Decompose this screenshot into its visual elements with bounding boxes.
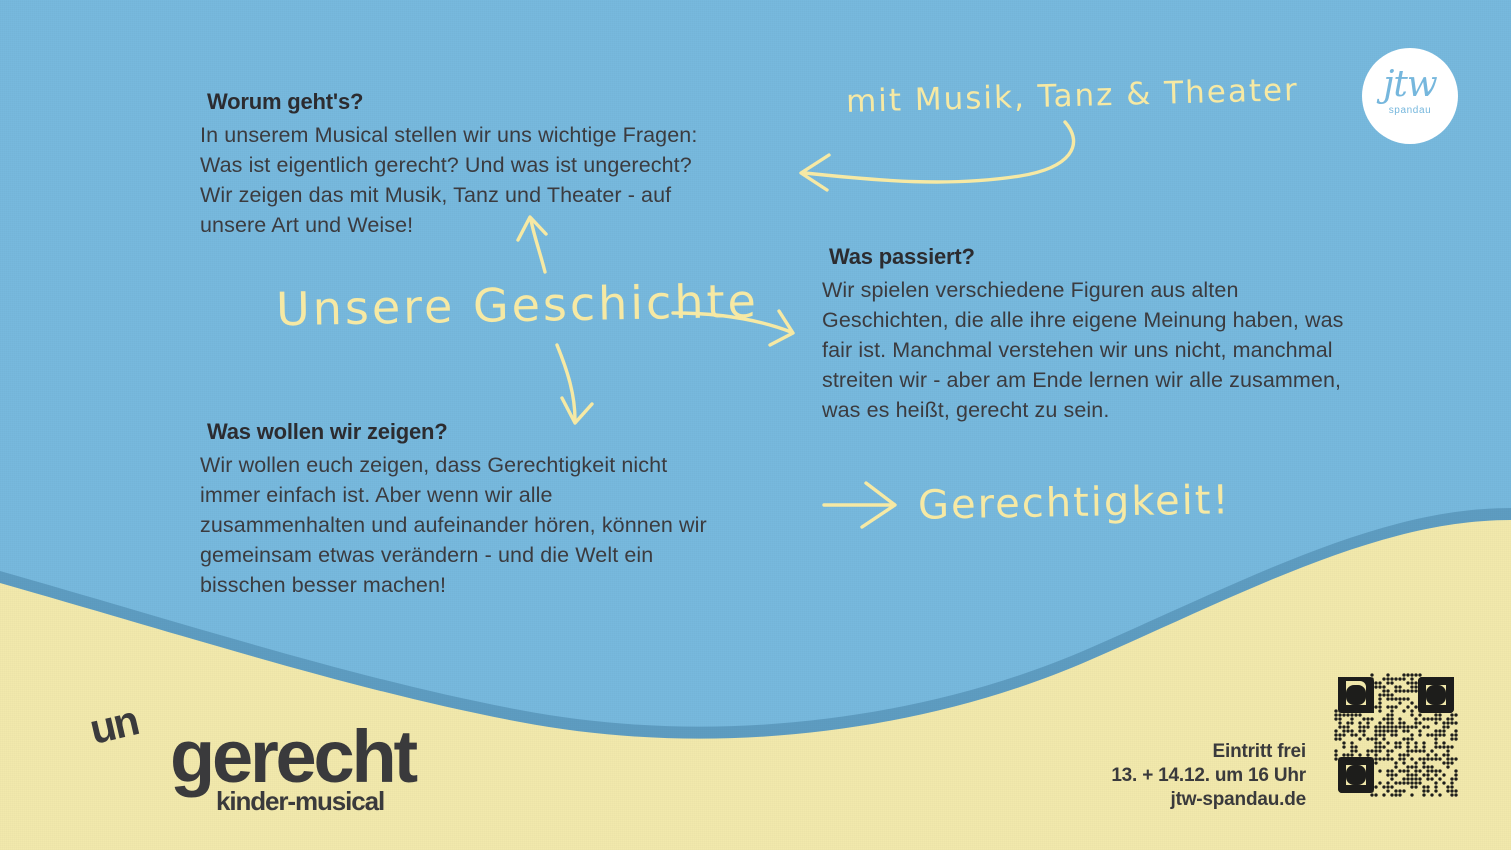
logo-prefix-un: un	[85, 697, 142, 754]
heading-was-wollen-wir-zeigen: Was wollen wir zeigen?	[200, 418, 457, 447]
text-block-was-wollen-wir-zeigen: Was wollen wir zeigen? Wir wollen euch z…	[200, 418, 738, 600]
info-admission: Eintritt frei	[1046, 740, 1306, 764]
heading-worum-gehts: Worum geht's?	[200, 88, 372, 117]
info-website[interactable]: jtw-spandau.de	[1046, 788, 1306, 812]
poster-canvas: jtw spandau Worum geht's? In unserem Mus…	[0, 0, 1511, 850]
body-was-passiert: Wir spielen verschiedene Figuren aus alt…	[822, 275, 1362, 425]
text-block-worum-gehts: Worum geht's? In unserem Musical stellen…	[200, 88, 740, 240]
curved-arrow-down-icon	[557, 345, 592, 423]
curved-arrow-left-icon	[801, 122, 1074, 190]
handwritten-gerechtigkeit: Gerechtigkeit!	[918, 477, 1231, 528]
arrow-right-chevron-icon	[824, 483, 895, 527]
jtw-logo-wordmark: jtw	[1362, 65, 1458, 105]
jtw-logo-subtitle: spandau	[1362, 105, 1458, 116]
event-info: Eintritt frei 13. + 14.12. um 16 Uhr jtw…	[1046, 740, 1306, 812]
logo-subtitle-kinder-musical: kinder-musical	[216, 786, 384, 817]
handwritten-unsere-geschichte: Unsere Geschichte	[276, 274, 760, 336]
ungerecht-logo[interactable]: un gerecht kinder-musical	[92, 706, 422, 811]
jtw-spandau-logo[interactable]: jtw spandau	[1362, 48, 1458, 144]
body-worum-gehts: In unserem Musical stellen wir uns wicht…	[200, 120, 740, 240]
heading-was-passiert: Was passiert?	[822, 243, 984, 272]
body-was-wollen-wir-zeigen: Wir wollen euch zeigen, dass Gerechtigke…	[200, 450, 738, 600]
info-dates: 13. + 14.12. um 16 Uhr	[1046, 764, 1306, 788]
qr-code-icon[interactable]	[1334, 673, 1458, 797]
text-block-was-passiert: Was passiert? Wir spielen verschiedene F…	[822, 243, 1362, 425]
justified-line: Wir spielen verschiedene Figuren aus alt…	[822, 275, 1362, 305]
logo-word-gerecht: gerecht	[170, 720, 415, 794]
